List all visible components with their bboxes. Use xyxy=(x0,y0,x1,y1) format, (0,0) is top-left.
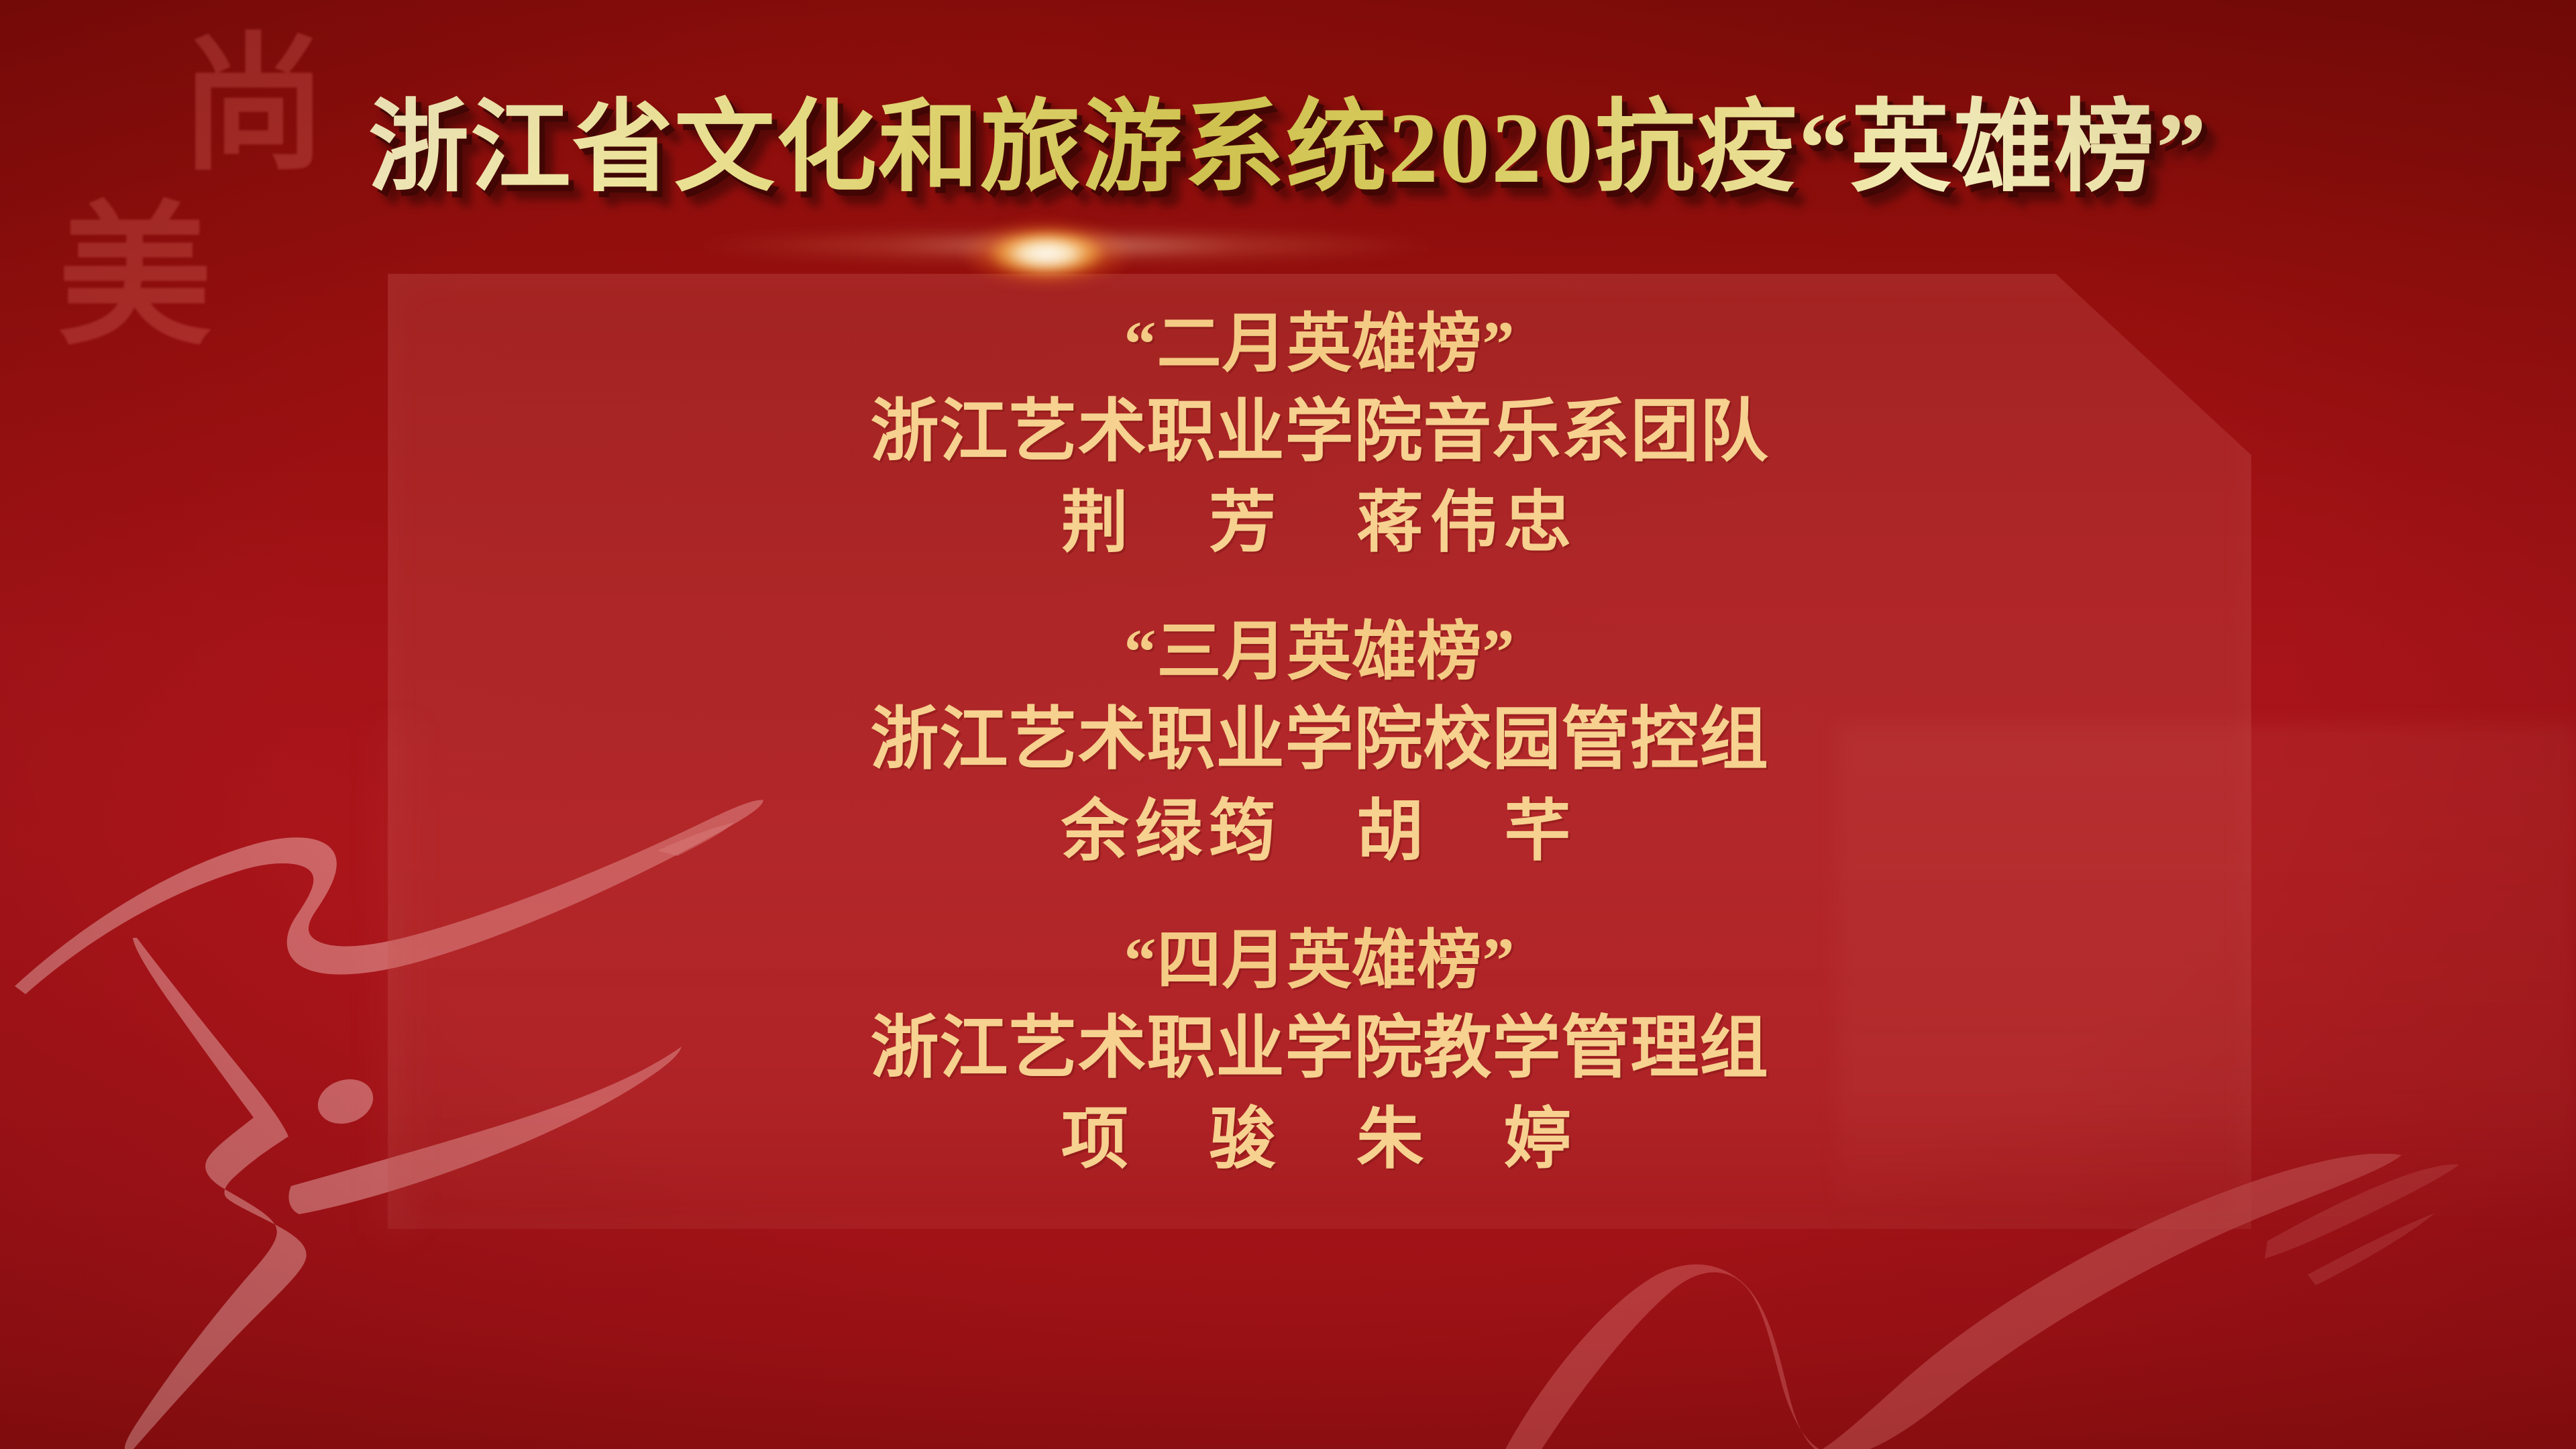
organization-name: 浙江艺术职业学院音乐系团队 xyxy=(388,387,2251,479)
honoree-names: 荆 芳 蒋伟忠 xyxy=(388,478,2251,568)
slide-canvas: 尚 美 浙江 xyxy=(0,0,2576,1449)
organization-name: 浙江艺术职业学院校园管控组 xyxy=(388,695,2251,787)
honoree-names: 项 骏 朱 婷 xyxy=(388,1095,2251,1185)
month-heading: “二月英雄榜” xyxy=(388,302,2251,387)
award-list: “二月英雄榜” 浙江艺术职业学院音乐系团队 荆 芳 蒋伟忠 “三月英雄榜” 浙江… xyxy=(388,274,2251,1229)
title-container: 浙江省文化和旅游系统2020抗疫“英雄榜” xyxy=(0,94,2576,203)
watermark-char-mei: 美 xyxy=(58,201,212,356)
award-block: “二月英雄榜” 浙江艺术职业学院音乐系团队 荆 芳 蒋伟忠 xyxy=(388,302,2251,568)
organization-name: 浙江艺术职业学院教学管理组 xyxy=(388,1004,2251,1095)
month-heading: “三月英雄榜” xyxy=(388,610,2251,695)
award-block: “四月英雄榜” 浙江艺术职业学院教学管理组 项 骏 朱 婷 xyxy=(388,918,2251,1185)
honoree-names: 余绿筠 胡 芊 xyxy=(388,787,2251,877)
month-heading: “四月英雄榜” xyxy=(388,918,2251,1004)
page-title: 浙江省文化和旅游系统2020抗疫“英雄榜” xyxy=(368,94,2208,203)
award-block: “三月英雄榜” 浙江艺术职业学院校园管控组 余绿筠 胡 芊 xyxy=(388,610,2251,876)
